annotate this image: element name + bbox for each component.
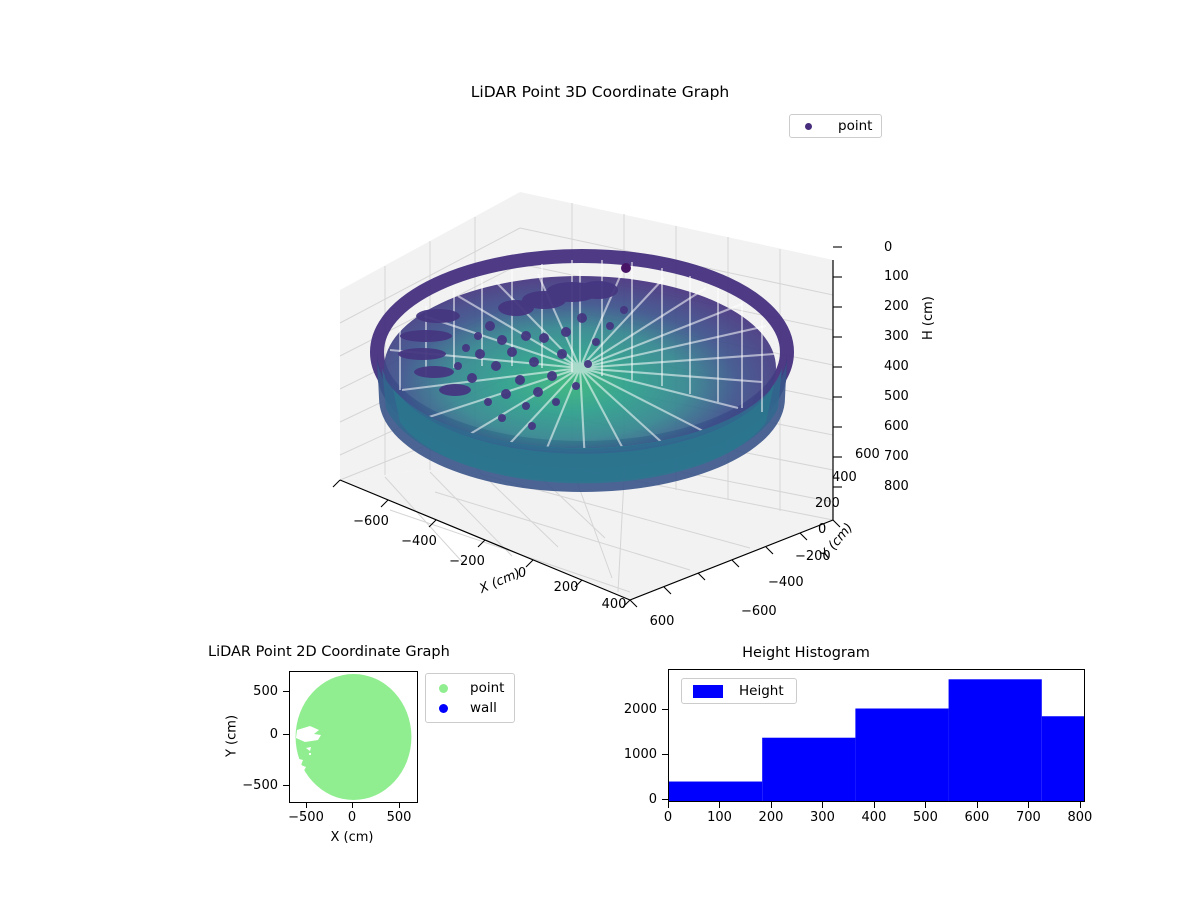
y3d-tick-1: −400 <box>768 575 804 590</box>
x3d-tick-1: −400 <box>401 534 437 549</box>
xhist-tick-400: 400 <box>862 810 887 825</box>
z3d-tick-8: 800 <box>884 479 909 494</box>
point-marker-icon <box>805 123 812 130</box>
z3d-tick-1: 100 <box>884 269 909 284</box>
yhist-tick-1000: 1000 <box>624 747 657 762</box>
x2d-tick-0: 0 <box>348 810 356 825</box>
xhist-tick-700: 700 <box>1016 810 1041 825</box>
yhist-tickmark-1000 <box>662 754 668 755</box>
histogram-bar <box>762 738 855 801</box>
xhist-tickmark-300 <box>822 802 823 808</box>
legend-2d-item-wall: wall <box>432 698 504 718</box>
plot-2d-canvas <box>290 672 417 802</box>
x2d-tickmark-neg500 <box>306 802 307 808</box>
xhist-tickmark-200 <box>771 802 772 808</box>
x3d-tick-0: −600 <box>353 514 389 529</box>
x3d-tick-2: −200 <box>449 554 485 569</box>
z3d-axis-label: H (cm) <box>921 296 936 340</box>
z3d-tick-5: 500 <box>884 389 909 404</box>
legend-2d-label-point: point <box>470 680 504 696</box>
histogram-bar <box>1042 716 1084 801</box>
x2d-tickmark-500 <box>399 802 400 808</box>
y3d-tick-4: 200 <box>815 496 840 511</box>
legend-histogram: Height <box>681 678 797 704</box>
legend-3d-label: point <box>838 118 872 134</box>
legend-histogram-label: Height <box>739 683 784 699</box>
plot-3d-title: LiDAR Point 3D Coordinate Graph <box>0 83 1200 101</box>
yhist-tickmark-0 <box>662 799 668 800</box>
z3d-tick-4: 400 <box>884 359 909 374</box>
z3d-tick-2: 200 <box>884 299 909 314</box>
xhist-tick-100: 100 <box>707 810 732 825</box>
y2d-tickmark-0 <box>283 734 289 735</box>
histogram-bar <box>949 679 1042 801</box>
x3d-tick-6: 600 <box>650 614 675 629</box>
xhist-tickmark-100 <box>719 802 720 808</box>
xhist-tick-800: 800 <box>1067 810 1092 825</box>
y3d-tick-0: −600 <box>741 604 777 619</box>
legend-2d-item-point: point <box>432 678 504 698</box>
y2d-tick-0: 0 <box>270 727 278 742</box>
histogram-bar <box>855 709 948 801</box>
xhist-tick-300: 300 <box>810 810 835 825</box>
y2d-tickmark-neg500 <box>283 785 289 786</box>
x2d-tick-neg500: −500 <box>288 810 324 825</box>
xhist-tickmark-500 <box>925 802 926 808</box>
point-marker-icon <box>439 684 448 693</box>
z3d-tick-3: 300 <box>884 329 909 344</box>
wall-marker-icon <box>439 704 448 713</box>
z3d-tick-7: 700 <box>884 449 909 464</box>
legend-3d: point <box>789 114 882 138</box>
x3d-tick-4: 200 <box>554 580 579 595</box>
yhist-tick-2000: 2000 <box>624 702 657 717</box>
xhist-tickmark-700 <box>1028 802 1029 808</box>
plot-2d-title: LiDAR Point 2D Coordinate Graph <box>208 644 450 660</box>
matplotlib-figure: LiDAR Point 3D Coordinate Graph point <box>0 0 1200 900</box>
z3d-tick-6: 600 <box>884 419 909 434</box>
xhist-tick-200: 200 <box>759 810 784 825</box>
y3d-tick-5: 400 <box>832 470 857 485</box>
y2d-tick-500: 500 <box>253 684 278 699</box>
xhist-tick-500: 500 <box>913 810 938 825</box>
x2d-axis-label: X (cm) <box>331 830 374 845</box>
y2d-axis-label: Y (cm) <box>225 715 240 757</box>
z3d-tick-0: 0 <box>884 240 892 255</box>
outlier-point <box>621 263 631 273</box>
yhist-tick-0: 0 <box>649 792 657 807</box>
y3d-tick-6: 600 <box>855 447 880 462</box>
y3d-tick-3: 0 <box>818 522 826 537</box>
histogram-bar <box>669 782 762 801</box>
xhist-tickmark-400 <box>874 802 875 808</box>
x2d-tickmark-0 <box>352 802 353 808</box>
xhist-tickmark-800 <box>1080 802 1081 808</box>
y2d-tickmark-500 <box>283 691 289 692</box>
xhist-tickmark-600 <box>977 802 978 808</box>
histogram-title: Height Histogram <box>742 645 870 661</box>
xhist-tick-600: 600 <box>965 810 990 825</box>
height-color-swatch <box>693 685 723 698</box>
x2d-tick-500: 500 <box>387 810 412 825</box>
legend-2d: point wall <box>425 673 515 723</box>
xhist-tick-0: 0 <box>664 810 672 825</box>
x3d-tick-5: 400 <box>602 597 627 612</box>
plot-2d-axes[interactable] <box>289 671 418 803</box>
legend-2d-label-wall: wall <box>470 700 497 716</box>
yhist-tickmark-2000 <box>662 709 668 710</box>
y2d-tick-neg500: −500 <box>242 778 278 793</box>
xhist-tickmark-0 <box>668 802 669 808</box>
